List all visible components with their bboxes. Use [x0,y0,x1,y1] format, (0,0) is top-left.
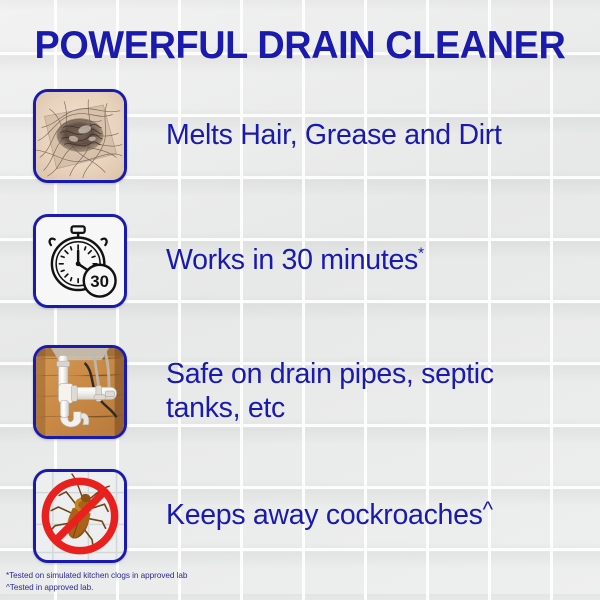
product-feature-poster: POWERFUL DRAIN CLEANER [0,0,600,600]
feature-label: Keeps away cockroaches^ [166,499,493,533]
footnotes: *Tested on simulated kitchen clogs in ap… [6,570,187,594]
feature-row: Keeps away cockroaches^ [33,468,573,564]
feature-text-1: Works in 30 minutes [166,244,418,276]
feature-marker-1: * [418,246,424,263]
feature-text-3: Keeps away cockroaches [166,499,483,531]
footnote-line-1: *Tested on simulated kitchen clogs in ap… [6,570,187,582]
hair-clog-photo [33,89,127,183]
page-title: POWERFUL DRAIN CLEANER [9,26,591,65]
stopwatch-icon: 30 [36,217,124,305]
drain-pipes-under-sink-photo [33,345,127,439]
feature-label: Safe on drain pipes, septic tanks, etc [166,358,573,425]
feature-row: 30 Works in 30 minutes* [33,213,573,309]
feature-label: Works in 30 minutes* [166,244,424,278]
drain-pipes-image [36,348,124,436]
feature-row: Melts Hair, Grease and Dirt [33,88,573,184]
feature-label: Melts Hair, Grease and Dirt [166,119,502,153]
feature-text-0: Melts Hair, Grease and Dirt [166,119,502,151]
footnote-line-2: ^Tested in approved lab. [6,582,187,594]
feature-text-2: Safe on drain pipes, septic tanks, etc [166,358,494,424]
no-cockroach-image [36,472,124,560]
hair-clog-image [36,92,124,180]
stopwatch-30-icon: 30 [33,214,127,308]
stopwatch-badge-label: 30 [90,272,109,291]
no-cockroach-photo [33,469,127,563]
feature-marker-3: ^ [483,497,493,522]
feature-row: Safe on drain pipes, septic tanks, etc [33,344,573,440]
